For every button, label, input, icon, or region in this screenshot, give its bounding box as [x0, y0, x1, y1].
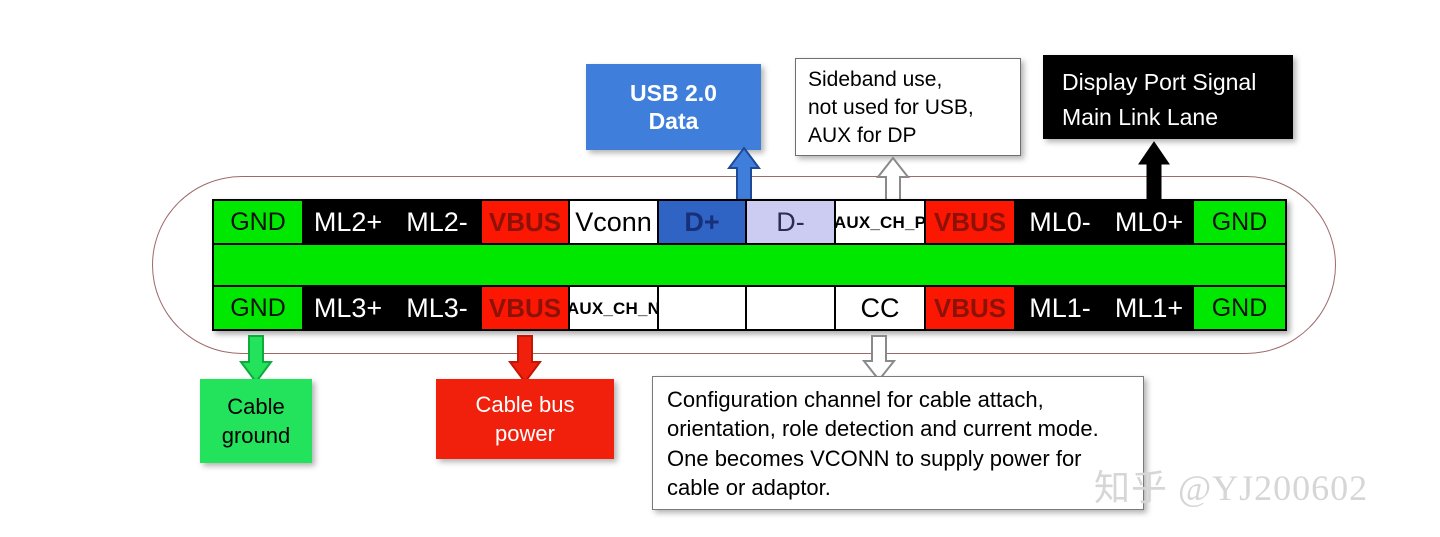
pin-cell-a12-gnd[interactable]: GND — [1194, 201, 1285, 243]
pin-cell-b10-ml1n[interactable]: ML1- — [1016, 287, 1106, 329]
red-down-arrow — [508, 334, 542, 384]
pin-cell-b8-cc[interactable]: CC — [836, 287, 926, 329]
pin-cell-a9-vbus[interactable]: VBUS — [926, 201, 1016, 243]
pin-cell-a10-ml0n[interactable]: ML0- — [1016, 201, 1106, 243]
pin-row-bottom: GND ML3+ ML3- VBUS AUX_CH_N CC VBUS ML1-… — [212, 285, 1287, 331]
callout-cable-bus-power-line1: Cable bus — [475, 390, 574, 419]
watermark-logo: 知乎 — [1094, 468, 1168, 509]
callout-configuration-channel: Configuration channel for cable attach, … — [652, 376, 1144, 510]
pin-cell-b6-empty[interactable] — [659, 287, 747, 329]
callout-sideband: Sideband use, not used for USB, AUX for … — [795, 58, 1021, 156]
pin-cell-a8-aux-ch-p[interactable]: AUX_CH_P — [836, 201, 926, 243]
callout-cable-ground-line2: ground — [222, 421, 291, 450]
pin-cell-a11-ml0p[interactable]: ML0+ — [1106, 201, 1194, 243]
callout-cable-ground: Cable ground — [200, 379, 312, 463]
callout-usb-data: USB 2.0 Data — [586, 64, 761, 150]
pin-cell-b11-ml1p[interactable]: ML1+ — [1106, 287, 1194, 329]
callout-usb-data-line2: Data — [649, 107, 699, 135]
pin-cell-a6-dplus[interactable]: D+ — [659, 201, 747, 243]
green-down-arrow — [239, 334, 273, 384]
pin-cell-a5-vconn[interactable]: Vconn — [570, 201, 659, 243]
pin-cell-a4-vbus[interactable]: VBUS — [482, 201, 570, 243]
pin-row-top: GND ML2+ ML2- VBUS Vconn D+ D- AUX_CH_P … — [212, 199, 1287, 245]
watermark-handle: @YJ200602 — [1178, 468, 1368, 508]
black-up-arrow — [1136, 140, 1172, 202]
pin-assignment-table: GND ML2+ ML2- VBUS Vconn D+ D- AUX_CH_P … — [212, 199, 1287, 331]
callout-cable-bus-power-line2: power — [495, 419, 555, 448]
callout-configuration-channel-line1: Configuration channel for cable attach, — [667, 385, 1143, 414]
pin-cell-b1-gnd[interactable]: GND — [214, 287, 304, 329]
pin-cell-a1-gnd[interactable]: GND — [214, 201, 304, 243]
callout-cable-ground-line1: Cable — [227, 392, 284, 421]
pin-cell-a7-dminus[interactable]: D- — [747, 201, 836, 243]
pin-cell-b9-vbus[interactable]: VBUS — [926, 287, 1016, 329]
callout-cable-bus-power: Cable bus power — [436, 379, 614, 459]
pin-cell-b4-vbus[interactable]: VBUS — [482, 287, 570, 329]
callout-display-port: Display Port Signal Main Link Lane — [1043, 55, 1293, 139]
diagram-canvas: USB 2.0 Data Sideband use, not used for … — [0, 0, 1440, 537]
pin-cell-a3-ml2n[interactable]: ML2- — [394, 201, 482, 243]
cable-shield-bar — [212, 245, 1287, 285]
callout-configuration-channel-line4: cable or adaptor. — [667, 473, 1143, 502]
callout-sideband-line1: Sideband use, — [808, 66, 1010, 94]
callout-usb-data-line1: USB 2.0 — [630, 79, 717, 107]
callout-configuration-channel-line2: orientation, role detection and current … — [667, 414, 1143, 443]
blue-up-arrow — [726, 146, 762, 202]
pin-cell-a2-ml2p[interactable]: ML2+ — [304, 201, 394, 243]
pin-cell-b7-empty[interactable] — [747, 287, 836, 329]
pin-cell-b2-ml3p[interactable]: ML3+ — [304, 287, 394, 329]
callout-sideband-line3: AUX for DP — [808, 122, 1010, 150]
callout-display-port-line2: Main Link Lane — [1062, 100, 1292, 135]
watermark: 知乎 @YJ200602 — [1094, 459, 1368, 511]
callout-display-port-line1: Display Port Signal — [1062, 65, 1292, 100]
pin-cell-b5-aux-ch-n[interactable]: AUX_CH_N — [570, 287, 659, 329]
callout-sideband-line2: not used for USB, — [808, 94, 1010, 122]
callout-configuration-channel-line3: One becomes VCONN to supply power for — [667, 444, 1143, 473]
pin-cell-b12-gnd[interactable]: GND — [1194, 287, 1285, 329]
white-down-arrow-cc — [862, 334, 896, 382]
pin-cell-b3-ml3n[interactable]: ML3- — [394, 287, 482, 329]
